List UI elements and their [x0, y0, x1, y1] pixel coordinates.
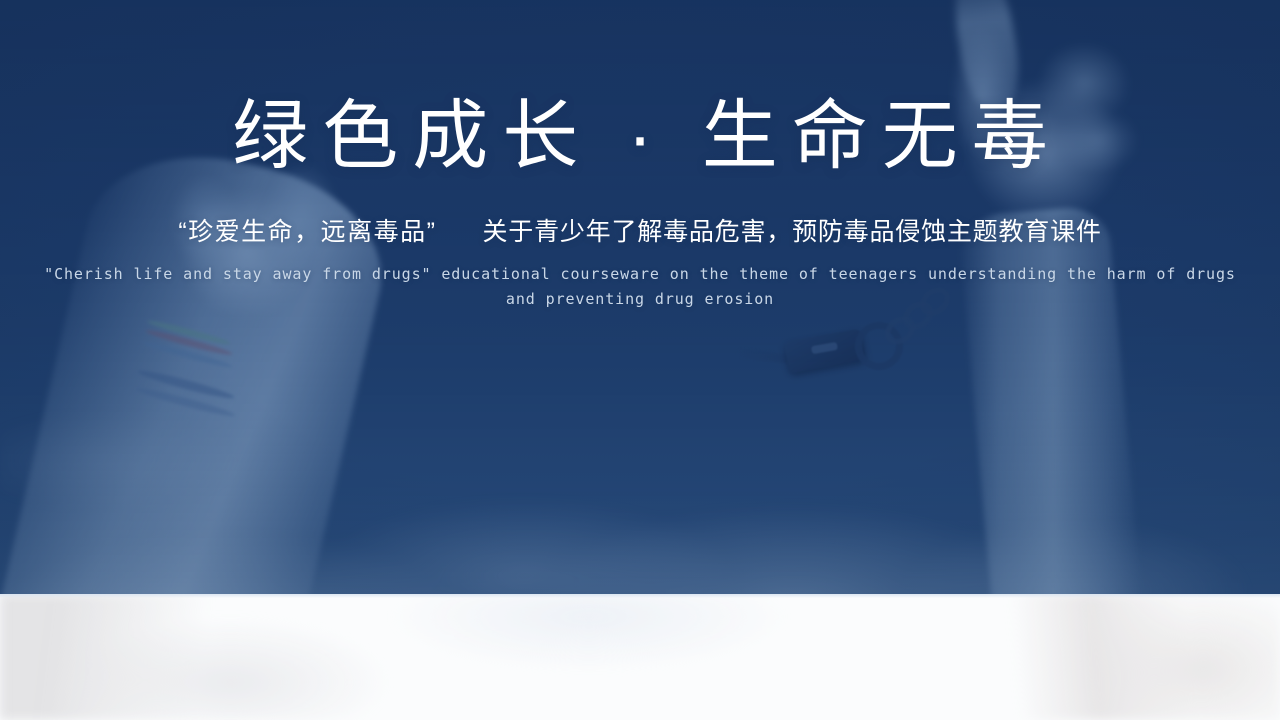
- presentation-slide: 绿色成长 · 生命无毒 “珍爱生命，远离毒品”关于青少年了解毒品危害，预防毒品侵…: [0, 0, 1280, 720]
- subtitle-slogan: “珍爱生命，远离毒品”: [178, 218, 436, 246]
- subtitle-description: 关于青少年了解毒品危害，预防毒品侵蚀主题教育课件: [482, 218, 1101, 246]
- page-title: 绿色成长 · 生命无毒: [0, 0, 1280, 178]
- subtitle-row: “珍爱生命，远离毒品”关于青少年了解毒品危害，预防毒品侵蚀主题教育课件: [0, 178, 1280, 249]
- english-caption-line-1: "Cherish life and stay away from drugs" …: [44, 265, 1176, 283]
- bottom-white-band: [0, 594, 1280, 720]
- english-caption: "Cherish life and stay away from drugs" …: [25, 249, 1255, 312]
- slide-content: 绿色成长 · 生命无毒 “珍爱生命，远离毒品”关于青少年了解毒品危害，预防毒品侵…: [0, 0, 1280, 312]
